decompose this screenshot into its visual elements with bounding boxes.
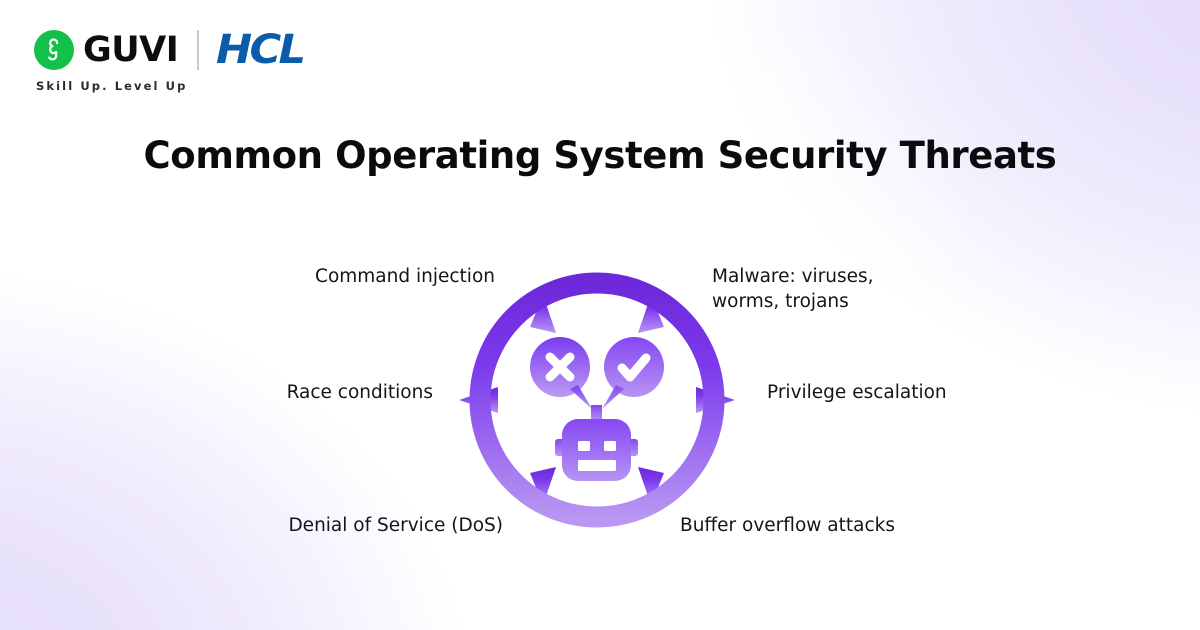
brand-logo-row: GUVI HCL	[34, 28, 297, 72]
guvi-g-circle-icon	[34, 30, 74, 70]
robot-head-icon	[555, 405, 638, 481]
speech-bubble-check-icon	[602, 337, 664, 409]
threat-label-buffer-overflow: Buffer overflow attacks	[680, 514, 895, 539]
brand-tagline: Skill Up. Level Up	[36, 79, 187, 93]
threat-label-malware: Malware: viruses, worms, trojans	[712, 265, 874, 315]
security-threat-robot-burst-icon	[452, 255, 742, 545]
threat-label-race-conditions: Race conditions	[287, 381, 433, 406]
starburst-ring-icon	[459, 283, 735, 517]
threat-label-denial-of-service: Denial of Service (DoS)	[288, 514, 503, 539]
page-title: Common Operating System Security Threats	[0, 134, 1200, 177]
threat-label-privilege-escalation: Privilege escalation	[767, 381, 947, 406]
threat-label-command-injection: Command injection	[315, 265, 495, 290]
vertical-divider-icon	[197, 30, 199, 70]
hcl-wordmark: HCL	[216, 30, 303, 70]
slide-canvas: GUVI HCL Skill Up. Level Up Common Opera…	[0, 0, 1200, 630]
guvi-wordmark: GUVI	[83, 33, 178, 68]
brand-logo-bar: GUVI HCL Skill Up. Level Up	[34, 28, 297, 93]
speech-bubble-x-icon	[530, 337, 592, 409]
